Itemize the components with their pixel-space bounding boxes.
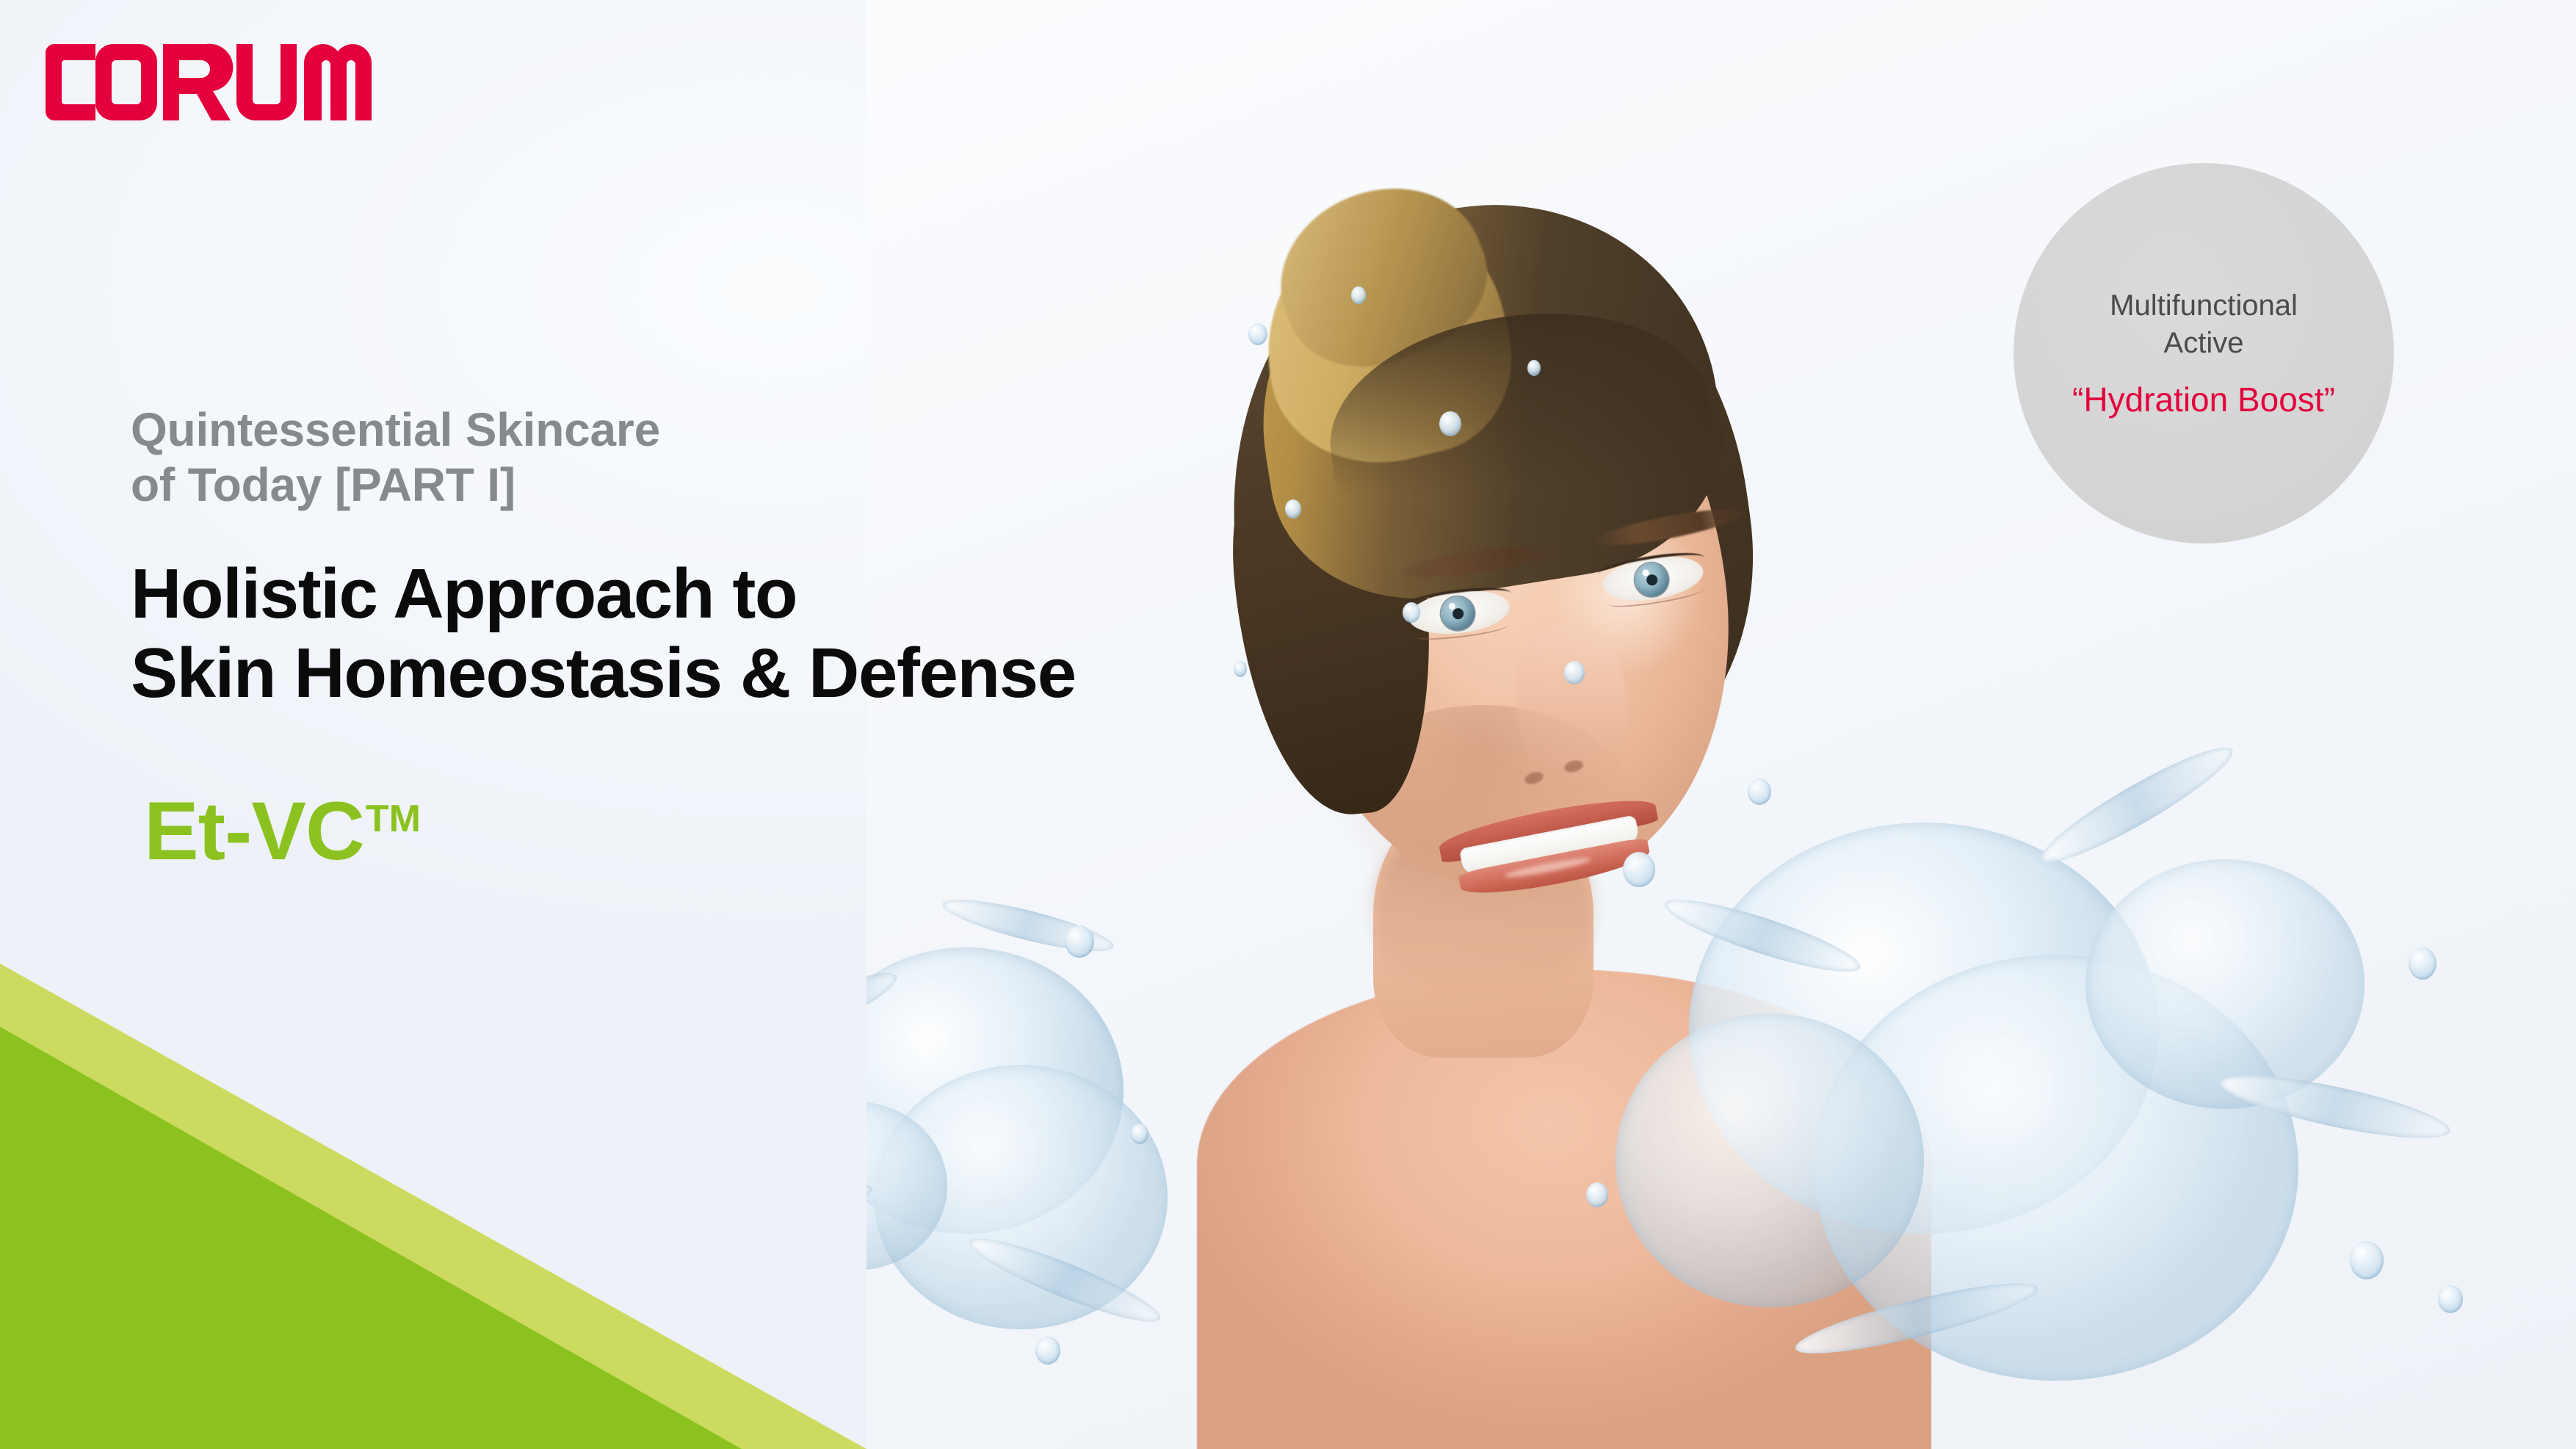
slide-canvas: Quintessential Skincare of Today [PART I… xyxy=(0,0,2576,1449)
product-name-text: Et-VC xyxy=(144,785,364,877)
kicker-text: Quintessential Skincare of Today [PART I… xyxy=(131,402,902,513)
badge-claim: “Hydration Boost” xyxy=(2072,380,2335,419)
model-figure xyxy=(1109,95,1975,1449)
trademark-symbol: TM xyxy=(366,798,421,840)
corner-accent-solid xyxy=(0,891,866,1449)
status-badge: Multifunctional Active “Hydration Boost” xyxy=(2014,163,2394,543)
page-title: Holistic Approach to Skin Homeostasis & … xyxy=(131,554,1232,712)
badge-subtitle: Multifunctional Active xyxy=(2110,287,2298,361)
product-name: Et-VCTM xyxy=(144,790,421,872)
corum-logo xyxy=(46,41,391,123)
